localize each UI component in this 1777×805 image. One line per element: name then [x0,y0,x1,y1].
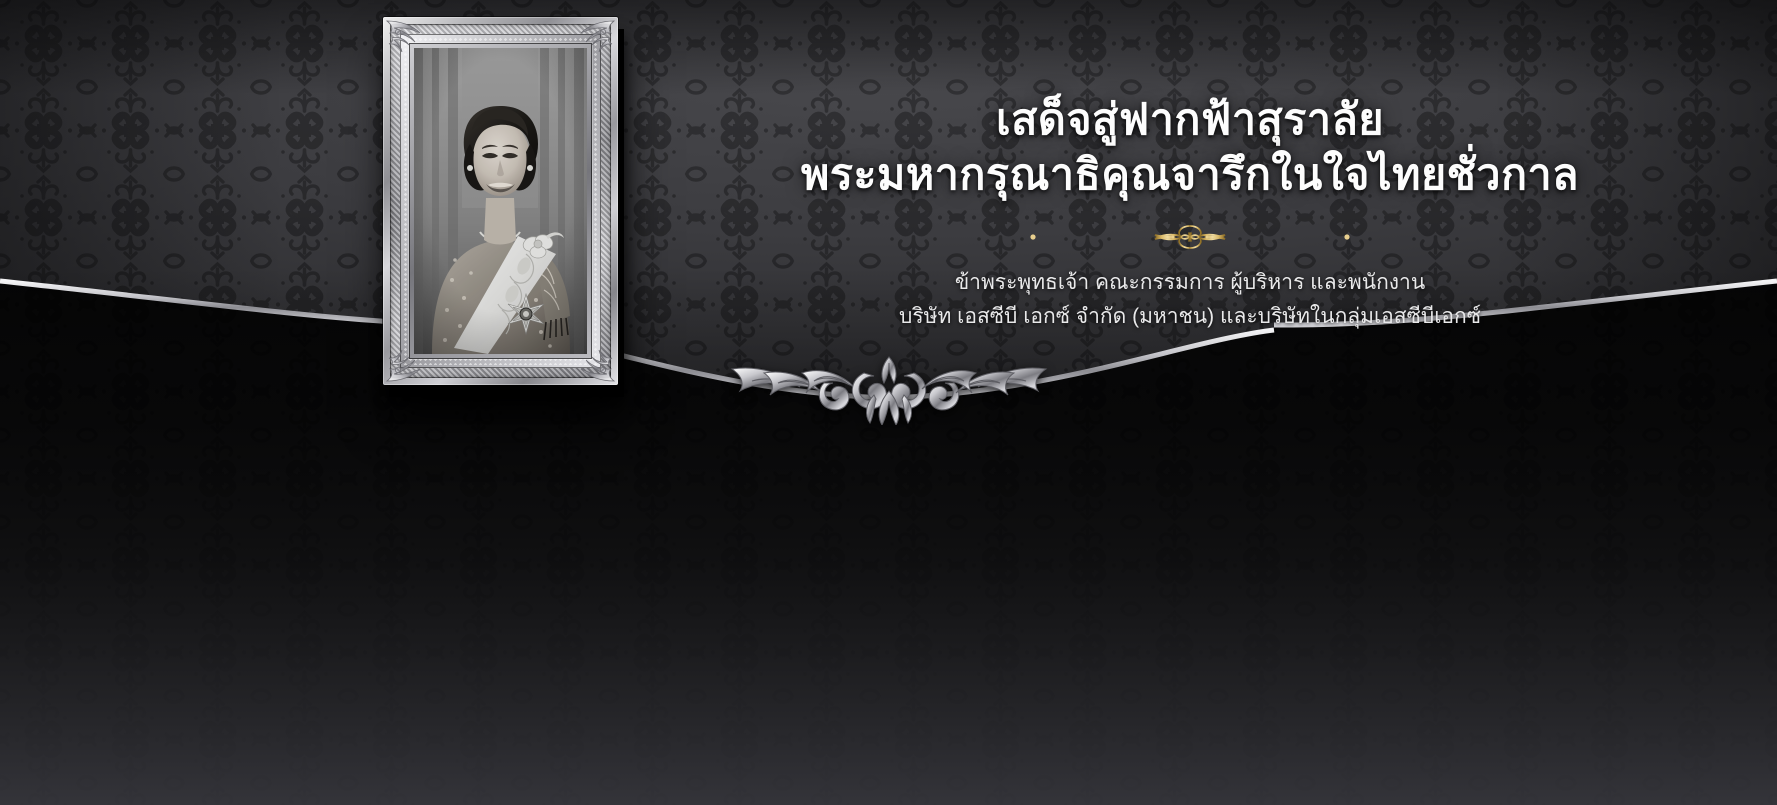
mourning-banner: เสด็จสู่ฟากฟ้าสุราลัย พระมหากรุณาธิคุณจา… [0,0,1777,805]
royal-portrait-photo [414,48,587,354]
frame-outer-molding [383,17,618,385]
subtitle-line-2: บริษัท เอสซีบี เอกซ์ จำกัด (มหาชน) และบร… [640,300,1740,334]
title-line-1: เสด็จสู่ฟากฟ้าสุราลัย [640,92,1740,149]
portrait-frame [383,17,618,385]
title-line-2: พระมหากรุณาธิคุณจารึกในใจไทยชั่วกาล [640,147,1740,204]
subtitle-line-1: ข้าพระพุทธเจ้า คณะกรรมการ ผู้บริหาร และพ… [640,266,1740,300]
gold-filigree-divider [1025,220,1355,254]
banner-text-block: เสด็จสู่ฟากฟ้าสุราลัย พระมหากรุณาธิคุณจา… [640,92,1740,334]
